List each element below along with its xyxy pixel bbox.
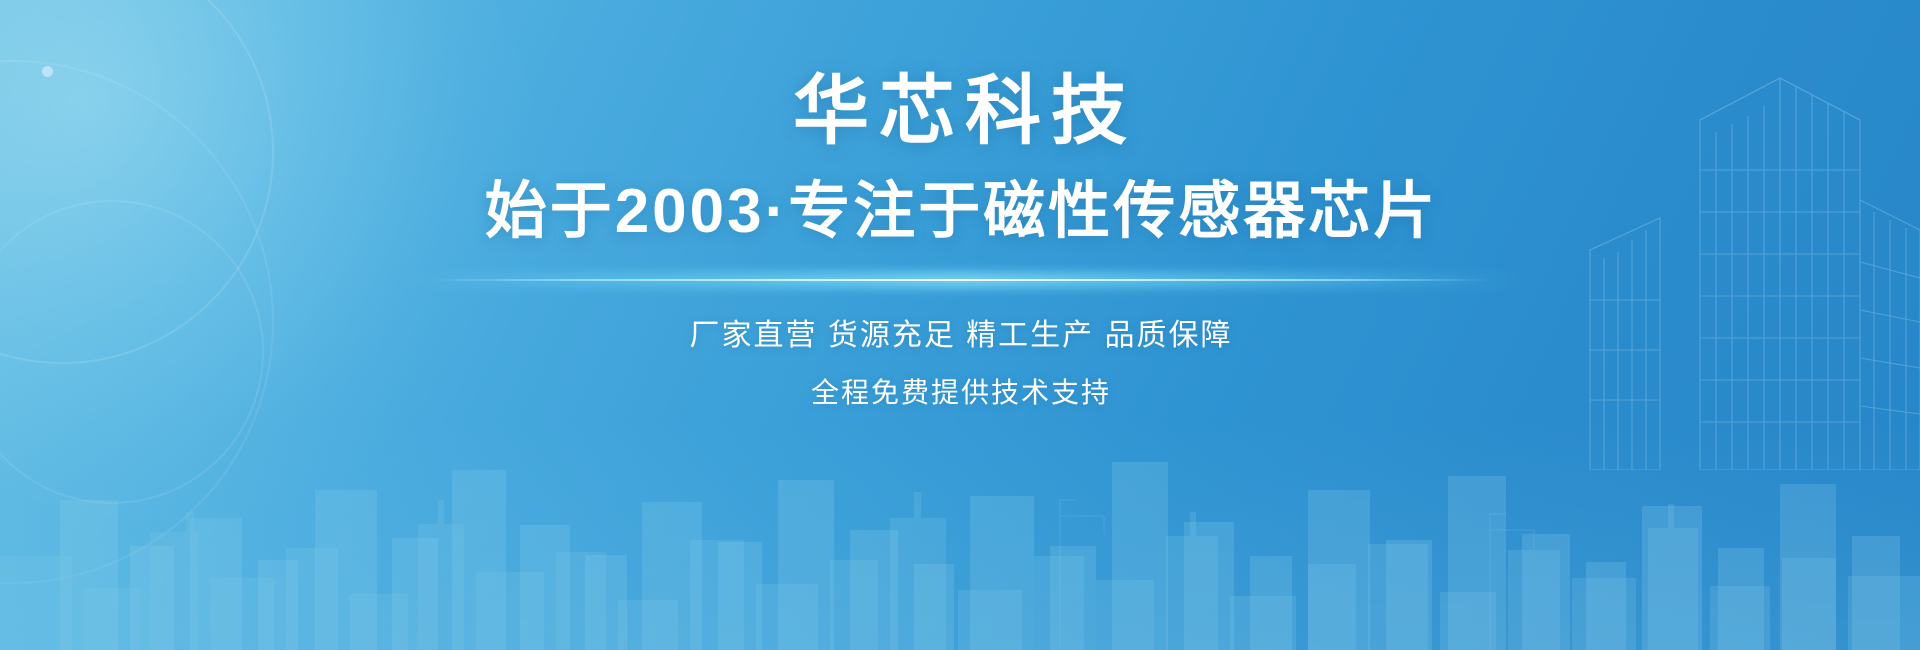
banner-features-text: 厂家直营 货源充足 精工生产 品质保障 bbox=[687, 318, 1232, 354]
banner-content: 华芯科技 始于2003·专注于磁性传感器芯片 厂家直营 货源充足 精工生产 品质… bbox=[0, 0, 1920, 650]
glow-divider bbox=[430, 272, 1490, 288]
page-title: 华芯科技 bbox=[783, 72, 1137, 152]
banner-subtitle: 始于2003·专注于磁性传感器芯片 bbox=[482, 178, 1439, 246]
divider-line bbox=[430, 279, 1490, 281]
banner-support-text: 全程免费提供技术支持 bbox=[809, 376, 1111, 410]
hero-banner: 华芯科技 始于2003·专注于磁性传感器芯片 厂家直营 货源充足 精工生产 品质… bbox=[0, 0, 1920, 650]
